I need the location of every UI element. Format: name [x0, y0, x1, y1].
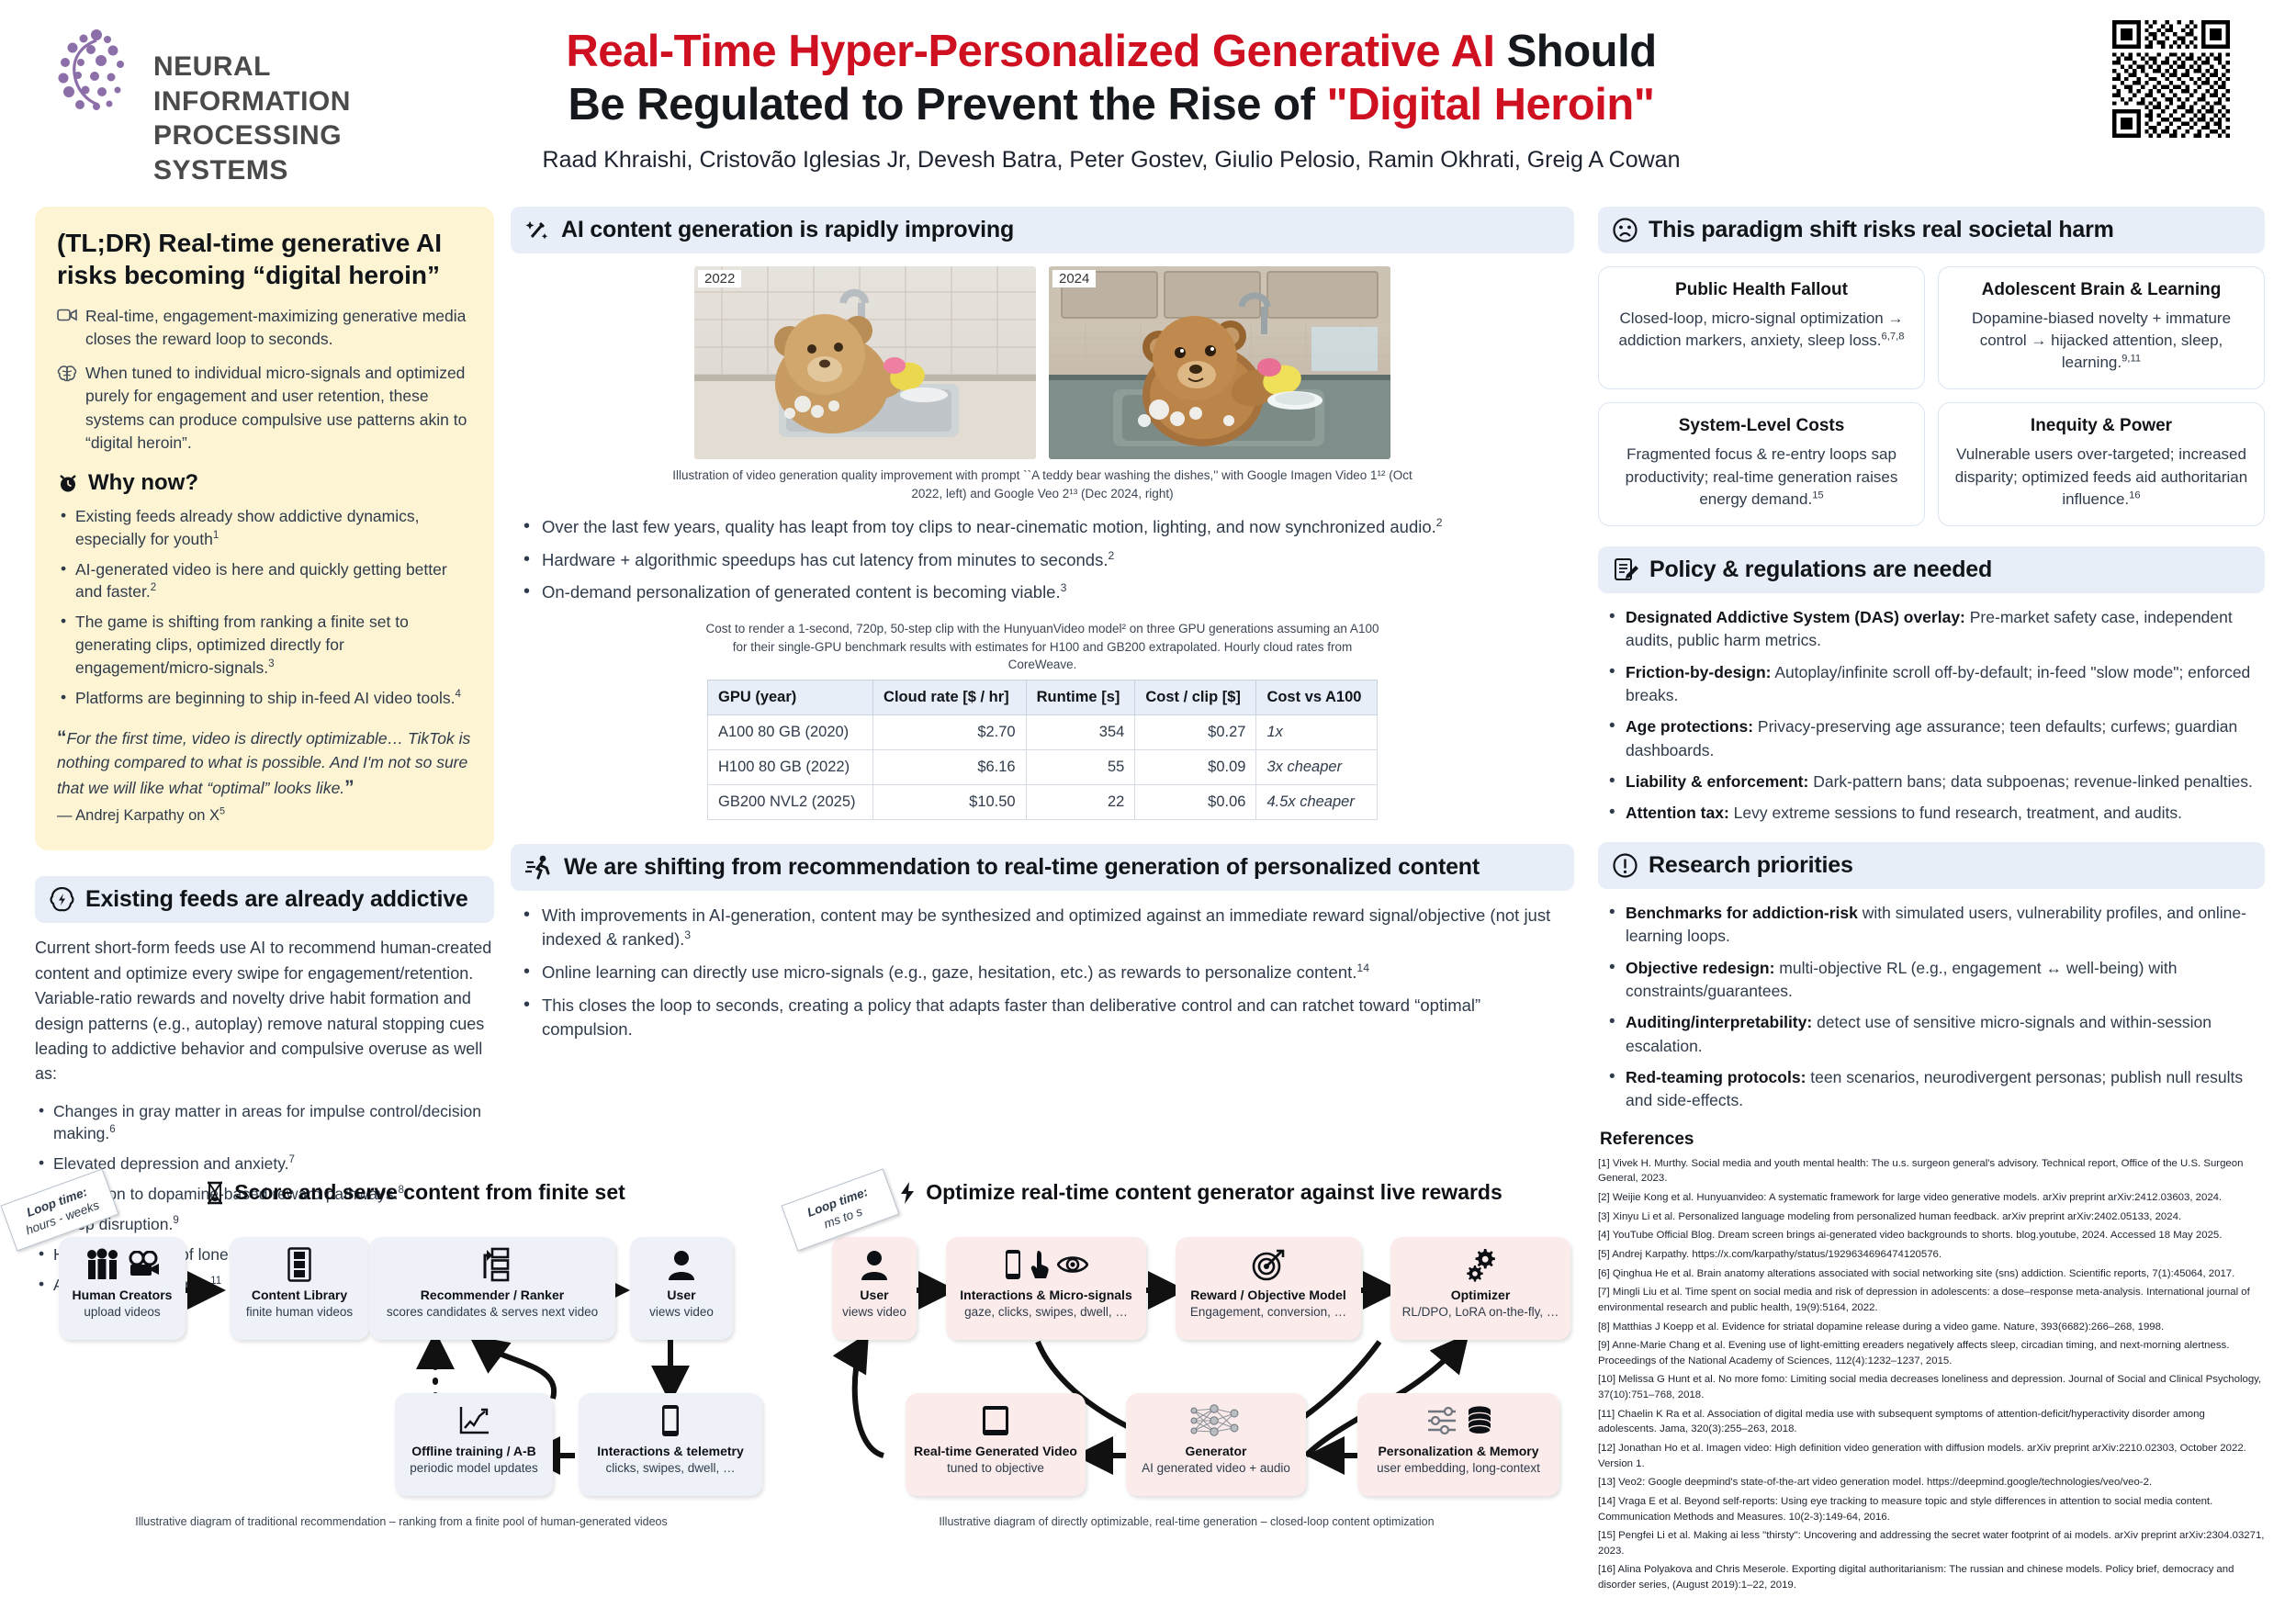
personalization-icons: [1424, 1400, 1493, 1441]
risk-card-body: Vulnerable users over-targeted; increase…: [1950, 444, 2253, 510]
sliders-icon: [1424, 1405, 1459, 1436]
diagram1-title-row: Score and serve content from finite set: [39, 1180, 792, 1205]
node-subtitle: scores candidates & serves next video: [387, 1305, 598, 1320]
qr-code[interactable]: [2112, 20, 2230, 138]
quote-attr-text: — Andrej Karpathy on X: [57, 807, 219, 824]
bullet-ref: 3: [684, 928, 691, 941]
brain-bolt-icon: [50, 887, 74, 912]
chart-icon-wrap: [457, 1400, 490, 1441]
user-icon-wrap: [668, 1244, 695, 1285]
tldr-bullet: AI-generated video is here and quickly g…: [57, 558, 472, 604]
open-quote-mark: “: [57, 727, 67, 748]
node-personalization-memory[interactable]: Personalization & Memory user embedding,…: [1357, 1393, 1559, 1496]
karpathy-quote: “For the first time, video is directly o…: [57, 725, 472, 827]
node-title: Real-time Generated Video: [914, 1444, 1077, 1459]
tldr-point-2-text: When tuned to individual micro-signals a…: [85, 362, 472, 455]
tldr-point-1: Real-time, engagement-maximizing generat…: [57, 305, 472, 352]
bullet-ref: 3: [268, 658, 274, 669]
node-reward-objective-model[interactable]: Reward / Objective Model Engagement, con…: [1176, 1237, 1361, 1340]
node-subtitle: gaze, clicks, swipes, dwell, …: [964, 1305, 1128, 1320]
node-subtitle: user embedding, long-context: [1377, 1461, 1540, 1476]
risk-card-title: Inequity & Power: [1950, 416, 2253, 436]
brain-icon: [57, 365, 77, 383]
gpu-table-body: A100 80 GB (2020)$2.70354$0.271xH100 80 …: [708, 714, 1378, 819]
year-label-2024: 2024: [1052, 270, 1096, 287]
quote-attr-ref: 5: [219, 806, 225, 817]
risk-card-ref: 9,11: [2122, 354, 2141, 365]
section-header-gen: AI content generation is rapidly improvi…: [511, 207, 1574, 253]
research-bullet: Benchmarks for addiction-risk with simul…: [1604, 902, 2265, 949]
teddy-bear-2022-image: [694, 266, 1036, 459]
policy-bullet: Liability & enforcement: Dark-pattern ba…: [1604, 770, 2265, 793]
traditional-recommendation-diagram: Loop time: hours - weeks Score and serve…: [11, 1180, 792, 1530]
bullet-lead: Liability & enforcement:: [1626, 772, 1808, 791]
node-realtime-generated-video[interactable]: Real-time Generated Video tuned to objec…: [906, 1393, 1086, 1496]
why-now-label: Why now?: [88, 470, 198, 496]
gpu-table-cell: $2.70: [873, 714, 1027, 749]
node-interactions-telemetry[interactable]: Interactions & telemetry clicks, swipes,…: [579, 1393, 762, 1496]
policy-bullet-list: Designated Addictive System (DAS) overla…: [1604, 606, 2265, 826]
reference-item: [16] Alina Polyakova and Chris Meserole.…: [1598, 1562, 2265, 1592]
policy-bullet: Attention tax: Levy extreme sessions to …: [1604, 802, 2265, 825]
bullet-ref: 3: [1061, 581, 1067, 594]
author-list: Raad Khraishi, Cristovão Iglesias Jr, De…: [478, 147, 1745, 174]
diagram1-caption: Illustrative diagram of traditional reco…: [11, 1515, 792, 1528]
gears-icon: [1464, 1247, 1497, 1282]
logo-line-1: NEURAL INFORMATION: [153, 50, 436, 118]
bullet-text: Dark-pattern bans; data subpoenas; reven…: [1808, 772, 2253, 791]
reference-item: [6] Qinghua He et al. Brain anatomy alte…: [1598, 1266, 2265, 1282]
gen-bullet: Hardware + algorithmic speedups has cut …: [518, 548, 1574, 573]
gpu-table-header-cell: Cost / clip [$]: [1135, 680, 1256, 714]
teddy-bear-2024-image: [1049, 266, 1390, 459]
node-title: Personalization & Memory: [1378, 1444, 1538, 1459]
tablet-icon: [981, 1405, 1010, 1436]
gpu-table-cell: GB200 NVL2 (2025): [708, 784, 873, 819]
neural-net-icon-wrap: [1187, 1400, 1245, 1441]
gpu-table-cell: H100 80 GB (2022): [708, 749, 873, 784]
shifting-bullet: Online learning can directly use micro-s…: [518, 961, 1574, 985]
alarm-clock-icon: [57, 472, 79, 494]
mobile-phone-icon: [660, 1404, 681, 1437]
node-subtitle: clicks, swipes, dwell, …: [605, 1461, 735, 1476]
node-interactions-microsignals[interactable]: Interactions & Micro-signals gaze, click…: [946, 1237, 1146, 1340]
references-title: References: [1600, 1130, 2265, 1150]
addictive-body-text: Current short-form feeds use AI to recom…: [35, 936, 494, 1086]
quote-text: For the first time, video is directly op…: [57, 729, 470, 798]
bullet-ref: 7: [289, 1154, 295, 1165]
bullet-ref: 1: [213, 530, 219, 541]
gpu-table-header-cell: GPU (year): [708, 680, 873, 714]
poster-header: NEURAL INFORMATION PROCESSING SYSTEMS Re…: [0, 0, 2296, 207]
node-optimizer[interactable]: Optimizer RL/DPO, LoRA on-the-fly, …: [1390, 1237, 1570, 1340]
bullet-text: With improvements in AI-generation, cont…: [542, 905, 1550, 950]
why-now-heading: Why now?: [57, 470, 472, 496]
tldr-title: (TL;DR) Real-time generative AI risks be…: [57, 227, 472, 292]
reference-item: [4] YouTube Official Blog. Dream screen …: [1598, 1228, 2265, 1243]
risk-card-body: Fragmented focus & re-entry loops sap pr…: [1610, 444, 1913, 510]
poster-title-line-1: Real-Time Hyper-Personalized Generative …: [478, 26, 1745, 79]
tldr-bullet: Platforms are beginning to ship in-feed …: [57, 687, 472, 710]
node-title: Content Library: [252, 1288, 347, 1303]
tldr-point-1-text: Real-time, engagement-maximizing generat…: [85, 305, 472, 352]
risk-card: Inequity & PowerVulnerable users over-ta…: [1938, 402, 2265, 525]
reference-item: [3] Xinyu Li et al. Personalized languag…: [1598, 1209, 2265, 1225]
node-subtitle: RL/DPO, LoRA on-the-fly, …: [1402, 1305, 1559, 1320]
poster-title-line-2: Be Regulated to Prevent the Rise of "Dig…: [478, 79, 1745, 132]
reference-item: [12] Jonathan Ho et al. Imagen video: Hi…: [1598, 1441, 2265, 1471]
research-bullet: Auditing/interpretability: detect use of…: [1604, 1011, 2265, 1058]
node-title: Interactions & Micro-signals: [960, 1288, 1131, 1303]
node-recommender-ranker[interactable]: Recommender / Ranker scores candidates &…: [369, 1237, 615, 1340]
research-bullet: Red-teaming protocols: teen scenarios, n…: [1604, 1066, 2265, 1113]
node-user-2[interactable]: User views video: [832, 1237, 917, 1340]
risk-card: System-Level CostsFragmented focus & re-…: [1598, 402, 1925, 525]
library-icon-wrap: [287, 1244, 311, 1285]
policy-document-icon: [1613, 557, 1638, 582]
section-title-shifting: We are shifting from recommendation to r…: [564, 854, 1480, 881]
diagram2-title-row: Optimize real-time content generator aga…: [819, 1180, 1581, 1205]
section-header-shifting: We are shifting from recommendation to r…: [511, 844, 1574, 891]
gpu-table-header-row: GPU (year)Cloud rate [$ / hr]Runtime [s]…: [708, 680, 1378, 714]
title-rest-1: Should: [1494, 27, 1656, 76]
rank-list-icon: [474, 1247, 511, 1282]
diagram-row: Loop time: hours - weeks Score and serve…: [0, 1180, 1589, 1530]
risk-card-ref: 6,7,8: [1882, 331, 1905, 342]
section-title-gen: AI content generation is rapidly improvi…: [561, 217, 1014, 243]
right-column: This paradigm shift risks real societal …: [1598, 207, 2265, 1597]
shifting-bullet-list: With improvements in AI-generation, cont…: [518, 904, 1574, 1042]
section-header-addictive: Existing feeds are already addictive: [35, 876, 494, 923]
video-frame-2024: 2024: [1049, 266, 1390, 459]
title-rest-2: Be Regulated to Prevent the Rise of: [568, 80, 1326, 129]
node-generator[interactable]: Generator AI generated video + audio: [1126, 1393, 1306, 1496]
gpu-table-cell: 354: [1026, 714, 1135, 749]
gpu-table-cell: 55: [1026, 749, 1135, 784]
node-subtitle: Engagement, conversion, …: [1190, 1305, 1346, 1320]
node-subtitle: upload videos: [84, 1305, 160, 1320]
bullet-text: The game is shifting from ranking a fini…: [75, 613, 409, 677]
reference-item: [15] Pengfei Li et al. Making ai less "t…: [1598, 1528, 2265, 1558]
node-title: User: [860, 1288, 888, 1303]
gpu-table-header-cell: Cloud rate [$ / hr]: [873, 680, 1027, 714]
hourglass-icon: [205, 1181, 225, 1205]
section-title-harm: This paradigm shift risks real societal …: [1649, 217, 2114, 243]
gen-bullet: On-demand personalization of generated c…: [518, 580, 1574, 605]
section-header-policy: Policy & regulations are needed: [1598, 546, 2265, 593]
section-title-research: Research priorities: [1649, 852, 1853, 879]
neurips-logo-mark: [51, 26, 142, 118]
bullet-lead: Benchmarks for addiction-risk: [1626, 904, 1858, 922]
policy-bullet: Age protections: Privacy-preserving age …: [1604, 715, 2265, 762]
quote-attribution: — Andrej Karpathy on X5: [57, 805, 472, 827]
reference-item: [10] Melissa G Hunt et al. No more fomo:…: [1598, 1372, 2265, 1402]
tldr-point-2: When tuned to individual micro-signals a…: [57, 362, 472, 455]
node-title: Recommender / Ranker: [421, 1288, 564, 1303]
risk-card-body: Closed-loop, micro-signal optimization →…: [1610, 308, 1913, 352]
year-label-2022: 2022: [698, 270, 741, 287]
risk-card: Public Health FalloutClosed-loop, micro-…: [1598, 266, 1925, 389]
neural-network-icon: [1187, 1403, 1245, 1438]
bullet-lead: Friction-by-design:: [1626, 663, 1771, 681]
user-icon-wrap-2: [861, 1244, 888, 1285]
neurips-logo: NEURAL INFORMATION PROCESSING SYSTEMS: [51, 26, 436, 136]
bullet-ref: 14: [1356, 962, 1369, 974]
harm-card-grid: Public Health FalloutClosed-loop, micro-…: [1598, 266, 2265, 526]
logo-line-2: PROCESSING SYSTEMS: [153, 118, 436, 187]
bullet-text: Changes in gray matter in areas for impu…: [53, 1102, 481, 1143]
target-icon-wrap: [1252, 1244, 1285, 1285]
reference-item: [11] Chaelin K Ra et al. Association of …: [1598, 1407, 2265, 1437]
addictive-bullet: Changes in gray matter in areas for impu…: [35, 1100, 494, 1146]
risk-card-title: System-Level Costs: [1610, 416, 1913, 436]
tldr-bullet: Existing feeds already show addictive dy…: [57, 505, 472, 551]
bullet-text: Hardware + algorithmic speedups has cut …: [542, 550, 1108, 569]
middle-column: AI content generation is rapidly improvi…: [511, 207, 1574, 1051]
bullet-lead: Age protections:: [1626, 717, 1753, 736]
bullet-text: Levy extreme sessions to fund research, …: [1729, 804, 2182, 822]
policy-bullet: Designated Addictive System (DAS) overla…: [1604, 606, 2265, 653]
exclamation-circle-icon: [1613, 853, 1638, 878]
bullet-text: Over the last few years, quality has lea…: [542, 517, 1436, 536]
node-title: User: [667, 1288, 695, 1303]
target-arrow-icon: [1252, 1248, 1285, 1281]
bullet-ref: 6: [109, 1125, 115, 1136]
section-header-harm: This paradigm shift risks real societal …: [1598, 207, 2265, 253]
gpu-table-cell: 22: [1026, 784, 1135, 819]
section-title-addictive: Existing feeds are already addictive: [85, 886, 468, 913]
film-strip-icon: [287, 1247, 311, 1282]
gpu-table-cell: $0.06: [1135, 784, 1256, 819]
eye-icon: [1057, 1253, 1088, 1276]
video-comparison-caption-text: Illustration of video generation quality…: [672, 468, 1412, 500]
gpu-cost-table: GPU (year)Cloud rate [$ / hr]Runtime [s]…: [707, 680, 1378, 820]
bullet-lead: Objective redesign:: [1626, 959, 1774, 977]
section-header-research: Research priorities: [1598, 842, 2265, 889]
reference-item: [14] Vraga E et al. Beyond self-reports:…: [1598, 1494, 2265, 1524]
reference-item: [9] Anne-Marie Chang et al. Evening use …: [1598, 1338, 2265, 1368]
reference-item: [13] Veo2: Google deepmind's state-of-th…: [1598, 1475, 2265, 1490]
node-subtitle: periodic model updates: [410, 1461, 538, 1476]
node-title: Interactions & telemetry: [597, 1444, 744, 1459]
bullet-lead: Attention tax:: [1626, 804, 1729, 822]
bullet-ref: 2: [151, 583, 156, 594]
node-subtitle: views video: [649, 1305, 714, 1320]
left-column: (TL;DR) Real-time generative AI risks be…: [35, 207, 494, 1304]
shifting-bullet: With improvements in AI-generation, cont…: [518, 904, 1574, 952]
gpu-table-header-cell: Runtime [s]: [1026, 680, 1135, 714]
gpu-table-cell: $0.09: [1135, 749, 1256, 784]
title-block: Real-Time Hyper-Personalized Generative …: [478, 26, 1745, 174]
movie-camera-icon: [128, 1251, 161, 1278]
section-title-policy: Policy & regulations are needed: [1649, 557, 1992, 583]
trend-chart-icon: [457, 1405, 490, 1436]
logo-text: NEURAL INFORMATION PROCESSING SYSTEMS: [153, 50, 436, 187]
node-subtitle: AI generated video + audio: [1142, 1461, 1290, 1476]
diagram2-caption: Illustrative diagram of directly optimiz…: [792, 1515, 1581, 1528]
microsignal-icons: [1004, 1244, 1088, 1285]
bullet-text: This closes the loop to seconds, creatin…: [542, 995, 1480, 1040]
node-subtitle: views video: [842, 1305, 906, 1320]
gpu-table-row: H100 80 GB (2022)$6.1655$0.093x cheaper: [708, 749, 1378, 784]
bullet-text: Platforms are beginning to ship in-feed …: [75, 689, 455, 707]
bullet-text: Elevated depression and anxiety.: [53, 1154, 289, 1173]
gpu-table-cell: 3x cheaper: [1256, 749, 1378, 784]
node-title: Optimizer: [1451, 1288, 1511, 1303]
node-subtitle: tuned to objective: [947, 1461, 1044, 1476]
reference-item: [5] Andrej Karpathy. https://x.com/karpa…: [1598, 1247, 2265, 1263]
diagram2-title: Optimize real-time content generator aga…: [926, 1180, 1503, 1205]
gpu-table-row: A100 80 GB (2020)$2.70354$0.271x: [708, 714, 1378, 749]
gpu-table-cell: $10.50: [873, 784, 1027, 819]
tldr-bullet: The game is shifting from ranking a fini…: [57, 611, 472, 680]
research-bullet-list: Benchmarks for addiction-risk with simul…: [1604, 902, 2265, 1113]
person-icon: [861, 1249, 888, 1280]
realtime-generation-diagram: Loop time: ms to s Optimize real-time co…: [792, 1180, 1581, 1530]
bullet-ref: 2: [1108, 549, 1114, 562]
node-title: Human Creators: [73, 1288, 173, 1303]
tablet-icon-wrap: [981, 1400, 1010, 1441]
title-emphasis-1: Real-Time Hyper-Personalized Generative …: [566, 27, 1494, 76]
policy-bullet: Friction-by-design: Autoplay/infinite sc…: [1604, 661, 2265, 708]
gpu-table-caption: Cost to render a 1-second, 720p, 50-step…: [703, 620, 1382, 674]
node-human-creators[interactable]: Human Creators upload videos: [59, 1237, 186, 1340]
bullet-lead: Red-teaming protocols:: [1626, 1068, 1806, 1086]
risk-card-ref: 15: [1812, 489, 1823, 500]
close-quote-mark: ”: [344, 777, 355, 798]
bullet-text: AI-generated video is here and quickly g…: [75, 560, 447, 602]
sad-face-icon: [1613, 218, 1638, 242]
person-running-icon: [525, 854, 553, 880]
tldr-bullet-list: Existing feeds already show addictive dy…: [57, 505, 472, 710]
gpu-table-cell: A100 80 GB (2020): [708, 714, 873, 749]
node-offline-training[interactable]: Offline training / A-B periodic model up…: [395, 1393, 553, 1496]
database-icon: [1466, 1405, 1493, 1436]
references-list: [1] Vivek H. Murthy. Social media and yo…: [1598, 1156, 2265, 1593]
gen-bullet: Over the last few years, quality has lea…: [518, 515, 1574, 540]
tap-finger-icon: [1029, 1249, 1051, 1280]
research-bullet: Objective redesign: multi-objective RL (…: [1604, 957, 2265, 1004]
shifting-bullet: This closes the loop to seconds, creatin…: [518, 994, 1574, 1042]
gears-icon-wrap: [1464, 1244, 1497, 1285]
node-title: Generator: [1186, 1444, 1247, 1459]
node-user-1[interactable]: User views video: [630, 1237, 733, 1340]
bullet-ref: 2: [1436, 516, 1443, 529]
lightning-bolt-icon: [898, 1181, 917, 1205]
risk-card-ref: 16: [2129, 489, 2140, 500]
node-title: Reward / Objective Model: [1190, 1288, 1346, 1303]
risk-card: Adolescent Brain & LearningDopamine-bias…: [1938, 266, 2265, 389]
mobile-phone-icon: [1004, 1249, 1022, 1280]
reference-item: [8] Matthias J Koepp et al. Evidence for…: [1598, 1320, 2265, 1335]
bullet-lead: Designated Addictive System (DAS) overla…: [1626, 608, 1965, 626]
tldr-card: (TL;DR) Real-time generative AI risks be…: [35, 207, 494, 850]
reference-item: [2] Weijie Kong et al. Hunyuanvideo: A s…: [1598, 1190, 2265, 1206]
node-subtitle: finite human videos: [246, 1305, 353, 1320]
people-icon: [84, 1248, 121, 1281]
creators-icons: [84, 1244, 161, 1285]
reference-item: [7] Mingli Liu et al. Time spent on soci…: [1598, 1285, 2265, 1315]
gpu-table-row: GB200 NVL2 (2025)$10.5022$0.064.5x cheap…: [708, 784, 1378, 819]
risk-card-body: Dopamine-biased novelty + immature contr…: [1950, 308, 2253, 374]
bullet-text: Online learning can directly use micro-s…: [542, 962, 1356, 982]
risk-card-title: Adolescent Brain & Learning: [1950, 280, 2253, 300]
gpu-table-cell: $0.27: [1135, 714, 1256, 749]
bullet-text: On-demand personalization of generated c…: [542, 582, 1061, 602]
person-icon: [668, 1249, 695, 1280]
gpu-table-caption-text: Cost to render a 1-second, 720p, 50-step…: [706, 622, 1379, 671]
video-camera-icon: [57, 308, 77, 322]
title-emphasis-2: "Digital Heroin": [1327, 80, 1655, 129]
node-content-library[interactable]: Content Library finite human videos: [230, 1237, 369, 1340]
gpu-table-cell: 1x: [1256, 714, 1378, 749]
ranker-icon-wrap: [474, 1244, 511, 1285]
video-frame-2022: 2022: [694, 266, 1036, 459]
gen-bullet-list: Over the last few years, quality has lea…: [518, 515, 1574, 605]
magic-wand-icon: [525, 218, 550, 242]
gpu-table-cell: $6.16: [873, 749, 1027, 784]
video-comparison-caption: Illustration of video generation quality…: [666, 467, 1419, 502]
node-title: Offline training / A-B: [411, 1444, 536, 1459]
bullet-ref: 4: [455, 689, 460, 700]
bullet-text: Existing feeds already show addictive dy…: [75, 507, 420, 548]
phone-icon-wrap: [660, 1400, 681, 1441]
video-quality-comparison: 2022: [511, 266, 1574, 459]
gpu-table-cell: 4.5x cheaper: [1256, 784, 1378, 819]
risk-card-title: Public Health Fallout: [1610, 280, 1913, 300]
gpu-table-header-cell: Cost vs A100: [1256, 680, 1378, 714]
reference-item: [1] Vivek H. Murthy. Social media and yo…: [1598, 1156, 2265, 1187]
bullet-lead: Auditing/interpretability:: [1626, 1013, 1812, 1031]
diagram1-title: Score and serve content from finite set: [234, 1180, 625, 1205]
